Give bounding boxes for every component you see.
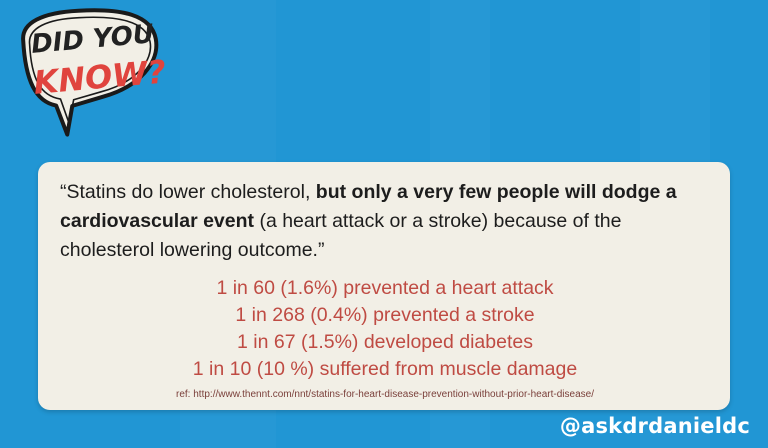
reference-link[interactable]: ref: http://www.thennt.com/nnt/statins-f… <box>60 389 710 400</box>
quote-card: “Statins do lower cholesterol, but only … <box>38 162 730 410</box>
quote-paragraph: “Statins do lower cholesterol, but only … <box>60 178 710 265</box>
did-you-know-badge: DID YOU KNOW? <box>8 4 188 144</box>
list-item: 1 in 67 (1.5%) developed diabetes <box>60 329 710 356</box>
list-item: 1 in 60 (1.6%) prevented a heart attack <box>60 275 710 302</box>
list-item: 1 in 10 (10 %) suffered from muscle dama… <box>60 356 710 383</box>
quote-part-1: “Statins do lower cholesterol, <box>60 181 316 203</box>
statistics-list: 1 in 60 (1.6%) prevented a heart attack … <box>60 275 710 383</box>
social-handle: @askdrdanieldc <box>560 414 750 438</box>
bubble-text-group: DID YOU KNOW? <box>8 4 188 144</box>
know-text: KNOW? <box>32 52 167 101</box>
list-item: 1 in 268 (0.4%) prevented a stroke <box>60 302 710 329</box>
